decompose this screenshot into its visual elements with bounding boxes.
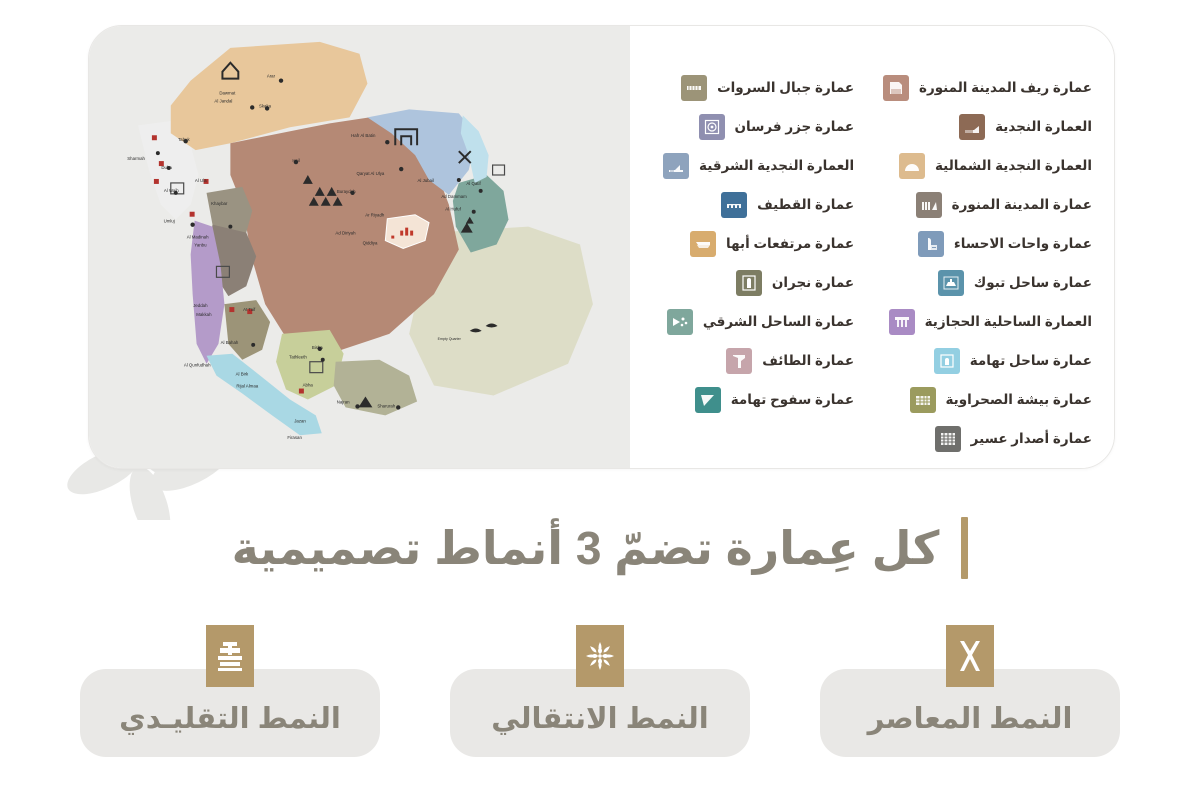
headline-text: كل عِمارة تضمّ 3 أنماط تصميمية (232, 521, 940, 575)
style-label-contemporary: النمط المعاصر (868, 701, 1073, 736)
svg-text:Sharurah: Sharurah (377, 403, 396, 408)
tihama-slopes-icon (695, 387, 721, 413)
legend-item-label: عمارة الطائف (762, 353, 854, 369)
svg-text:Ad Diriyah: Ad Diriyah (335, 231, 356, 236)
legend-item[interactable]: عمارة سفوح تهامة (644, 380, 854, 419)
qatif-arches-icon (721, 192, 747, 218)
east-coast-icon (667, 309, 693, 335)
svg-text:Jazan: Jazan (294, 418, 306, 423)
svg-text:Yanbu: Yanbu (194, 243, 207, 248)
svg-text:Skaka: Skaka (259, 103, 272, 108)
svg-text:Umluj: Umluj (164, 219, 175, 224)
svg-text:Al Hufuf: Al Hufuf (445, 207, 461, 212)
legend-panel: عمارة ريف المدينة المنورة العمارة النجدي… (630, 26, 1114, 468)
svg-text:Al Ula: Al Ula (195, 178, 207, 183)
svg-text:Al Qatif: Al Qatif (466, 181, 481, 186)
architecture-map-card: عمارة ريف المدينة المنورة العمارة النجدي… (88, 25, 1115, 469)
legend-item-label: عمارة بيشة الصحراوية (946, 392, 1093, 408)
map-panel: Arar Dawmat Al Jandal Skaka Tabuk Sharma… (89, 26, 630, 468)
headline-accent-bar (961, 517, 968, 579)
legend-item[interactable]: عمارة القطيف (644, 185, 854, 224)
svg-text:Al Madinah: Al Madinah (187, 235, 209, 240)
legend-item-label: عمارة ريف المدينة المنورة (919, 80, 1092, 96)
legend-item-label: العمارة النجدية الشمالية (935, 158, 1092, 174)
legend-item-label: عمارة جزر فرسان (735, 119, 855, 135)
legend-item[interactable]: عمارة جبال السروات (644, 68, 854, 107)
desert-wall-icon (910, 387, 936, 413)
svg-text:Firasan: Firasan (287, 435, 302, 440)
legend-column-left: عمارة جبال السروات عمارة جزر فرسان العما… (644, 46, 854, 458)
svg-text:Al Wajh: Al Wajh (164, 188, 179, 193)
legend-item[interactable]: العمارة الساحلية الحجازية (862, 302, 1092, 341)
svg-text:Tabuk: Tabuk (178, 137, 190, 142)
legend-item[interactable]: عمارة نجران (644, 263, 854, 302)
svg-text:Bisha: Bisha (312, 345, 323, 350)
legend-item-label: عمارة واحات الاحساء (954, 236, 1092, 252)
legend-item-label: عمارة جبال السروات (717, 80, 854, 96)
svg-text:Jeddah: Jeddah (193, 303, 208, 308)
svg-text:Al Bahah: Al Bahah (221, 340, 239, 345)
legend-item[interactable]: عمارة المدينة المنورة (862, 185, 1092, 224)
svg-text:Ar Riyadh: Ar Riyadh (365, 213, 385, 218)
colonnade-icon (916, 192, 942, 218)
legend-item[interactable]: العمارة النجدية (862, 107, 1092, 146)
legend-item-label: عمارة القطيف (757, 197, 854, 213)
traditional-stacked-building-icon (206, 625, 254, 687)
legend-item-label: عمارة ساحل تبوك (974, 275, 1092, 291)
legend-item-label: عمارة مرتفعات أبها (726, 236, 854, 252)
oasis-tower-icon (918, 231, 944, 257)
svg-text:Makkah: Makkah (196, 312, 212, 317)
saudi-arabia-architecture-map[interactable]: Arar Dawmat Al Jandal Skaka Tabuk Sharma… (89, 26, 630, 468)
legend-item[interactable]: عمارة جزر فرسان (644, 107, 854, 146)
svg-text:Al Qunfudhah: Al Qunfudhah (184, 363, 211, 368)
legend-item[interactable]: عمارة الطائف (644, 341, 854, 380)
legend-item-label: العمارة النجدية الشرقية (699, 158, 854, 174)
svg-text:Najran: Najran (337, 399, 350, 404)
contemporary-x-motif-icon (946, 625, 994, 687)
style-label-transitional: النمط الانتقالي (491, 701, 708, 736)
svg-text:Tathleeth: Tathleeth (289, 355, 307, 360)
svg-text:Al Jubail: Al Jubail (418, 178, 435, 183)
hijazi-facade-icon (889, 309, 915, 335)
svg-text:Khaybar: Khaybar (211, 201, 228, 206)
legend-item[interactable]: عمارة الساحل الشرقي (644, 302, 854, 341)
style-item-traditional[interactable]: النمط التقليـدي (80, 625, 380, 757)
style-label-traditional: النمط التقليـدي (119, 701, 341, 736)
headline: كل عِمارة تضمّ 3 أنماط تصميمية (0, 505, 1200, 590)
legend-item[interactable]: عمارة أصدار عسير (862, 419, 1092, 458)
legend-item[interactable]: العمارة النجدية الشمالية (862, 146, 1092, 185)
region-asir-highlands (334, 360, 417, 416)
legend-item-label: العمارة النجدية (995, 119, 1092, 135)
svg-text:Al Birk: Al Birk (236, 372, 249, 377)
svg-text:Rijal Almaa: Rijal Almaa (236, 384, 258, 389)
style-item-contemporary[interactable]: النمط المعاصر (820, 625, 1120, 757)
najdi-building-icon (959, 114, 985, 140)
svg-text:Qaryat Al Ulya: Qaryat Al Ulya (356, 171, 384, 176)
svg-text:Duba: Duba (161, 165, 172, 170)
svg-text:At Taif: At Taif (243, 307, 256, 312)
asir-pattern-icon (935, 426, 961, 452)
transitional-rosette-motif-icon (576, 625, 624, 687)
tihama-hut-icon (934, 348, 960, 374)
svg-text:Ad Dammam: Ad Dammam (441, 194, 467, 199)
legend-item[interactable]: العمارة النجدية الشرقية (644, 146, 854, 185)
legend-item-label: عمارة الساحل الشرقي (703, 314, 854, 330)
legend-item-label: عمارة نجران (772, 275, 854, 291)
svg-text:Empty Quarter: Empty Quarter (438, 337, 462, 341)
legend-item[interactable]: عمارة مرتفعات أبها (644, 224, 854, 263)
legend-item[interactable]: عمارة واحات الاحساء (862, 224, 1092, 263)
legend-item-label: عمارة ساحل تهامة (970, 353, 1092, 369)
svg-text:Abha: Abha (303, 383, 314, 388)
legend-item[interactable]: عمارة بيشة الصحراوية (862, 380, 1092, 419)
legend-item-label: عمارة أصدار عسير (971, 431, 1092, 447)
svg-text:Hafr Al Batin: Hafr Al Batin (351, 133, 376, 138)
legend-item[interactable]: عمارة ساحل تبوك (862, 263, 1092, 302)
eastern-najdi-icon (663, 153, 689, 179)
farasan-ornament-icon (699, 114, 725, 140)
taif-house-icon (726, 348, 752, 374)
house-flat-roof-icon (883, 75, 909, 101)
svg-text:Hail: Hail (292, 158, 300, 163)
legend-item-label: عمارة المدينة المنورة (952, 197, 1092, 213)
svg-text:Qiddiya: Qiddiya (363, 241, 378, 246)
design-styles-row: النمط المعاصر ال (0, 625, 1200, 775)
dome-arch-icon (899, 153, 925, 179)
legend-column-right: عمارة ريف المدينة المنورة العمارة النجدي… (862, 46, 1092, 458)
legend-item[interactable]: عمارة ريف المدينة المنورة (862, 68, 1092, 107)
legend-item[interactable]: عمارة ساحل تهامة (862, 341, 1092, 380)
abha-highland-icon (690, 231, 716, 257)
svg-text:Dawmat: Dawmat (219, 91, 236, 96)
svg-text:Arar: Arar (267, 74, 276, 79)
svg-text:Al Jandal: Al Jandal (214, 98, 232, 103)
svg-text:Sharmah: Sharmah (127, 156, 145, 161)
najran-tower-icon (736, 270, 762, 296)
svg-text:Buraydah: Buraydah (337, 189, 356, 194)
legend-item-label: العمارة الساحلية الحجازية (925, 314, 1092, 330)
style-item-transitional[interactable]: النمط الانتقالي (450, 625, 750, 757)
legend-item-label: عمارة سفوح تهامة (731, 392, 854, 408)
mountain-terrace-icon (681, 75, 707, 101)
coastal-house-icon (938, 270, 964, 296)
